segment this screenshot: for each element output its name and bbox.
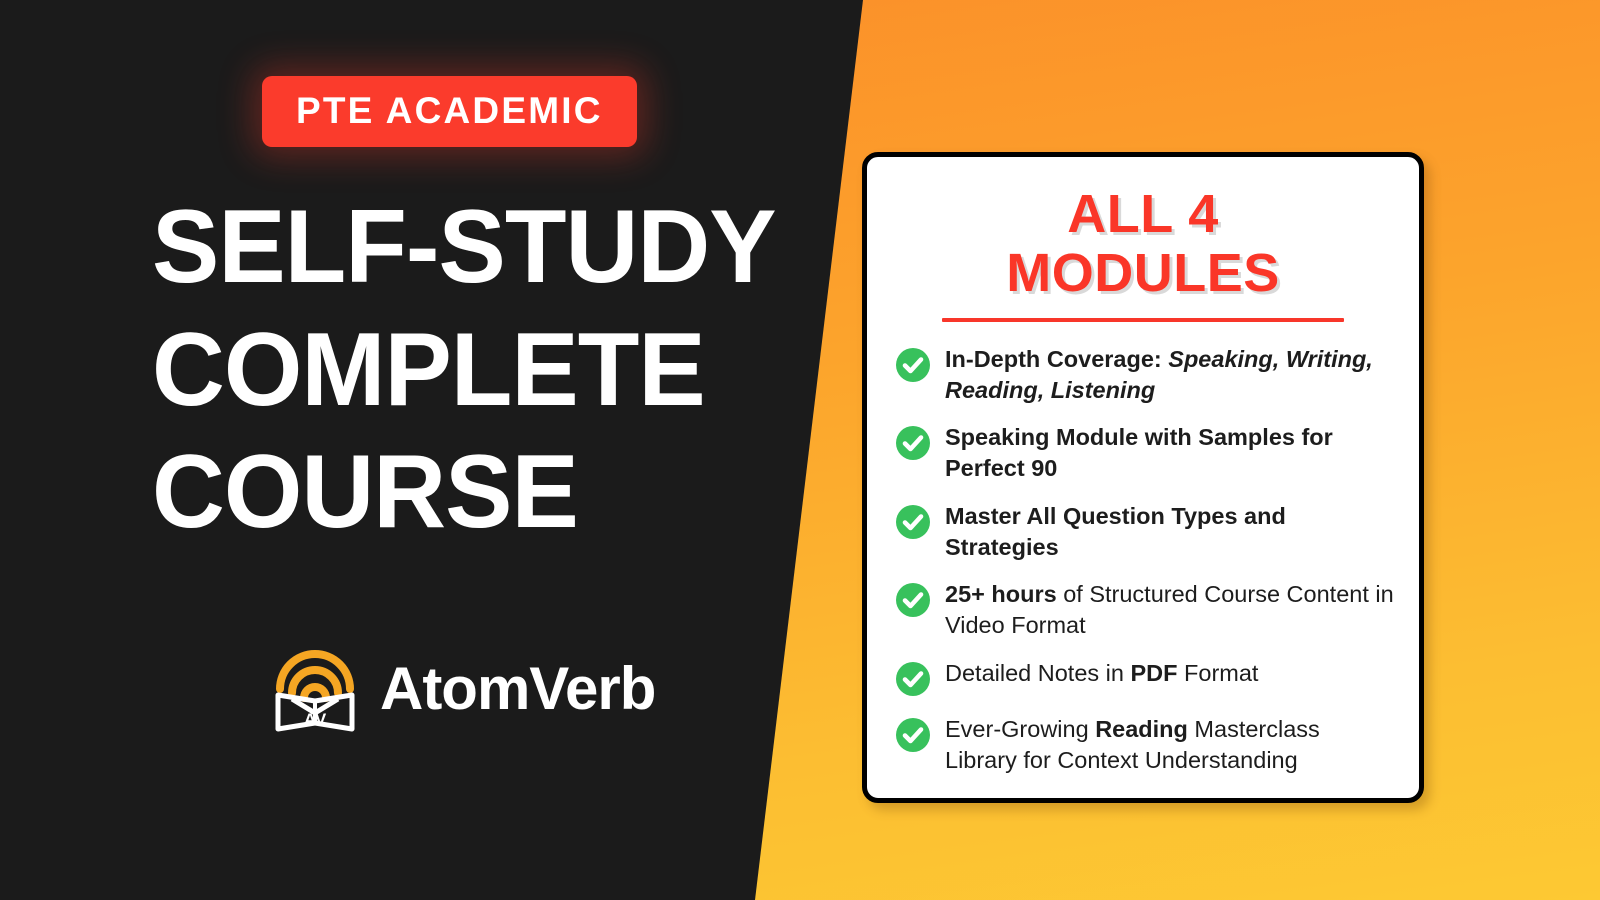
- feature-item: Speaking Module with Samples for Perfect…: [895, 422, 1397, 484]
- feature-text-part: 25+ hours: [945, 581, 1057, 607]
- check-circle-icon: [895, 661, 931, 697]
- left-content-column: PTE ACADEMIC SELF-STUDY COMPLETE COURSE …: [0, 0, 830, 900]
- page-title: SELF-STUDY COMPLETE COURSE: [152, 186, 852, 554]
- feature-item: Detailed Notes in PDF Format: [895, 658, 1397, 697]
- feature-text-part: Speaking Module with Samples for Perfect…: [945, 424, 1333, 481]
- check-circle-icon: [895, 717, 931, 753]
- feature-text-part: Format: [1178, 660, 1259, 686]
- check-circle-icon: [895, 347, 931, 383]
- card-title: ALL 4 MODULES: [867, 185, 1419, 304]
- feature-text: Speaking Module with Samples for Perfect…: [945, 422, 1397, 484]
- features-list: In-Depth Coverage: Speaking, Writing, Re…: [867, 344, 1419, 776]
- headline-line-3: COURSE: [152, 431, 831, 554]
- headline-line-1: SELF-STUDY: [152, 186, 831, 309]
- logo-monogram: AV: [304, 710, 327, 729]
- feature-item: Master All Question Types and Strategies: [895, 501, 1397, 563]
- feature-item: 25+ hours of Structured Course Content i…: [895, 579, 1397, 641]
- card-title-line-2: MODULES: [867, 244, 1419, 303]
- check-circle-icon: [895, 504, 931, 540]
- feature-text-part: Reading: [1095, 716, 1188, 742]
- feature-text-part: Master All Question Types and Strategies: [945, 503, 1286, 560]
- check-circle-icon: [895, 582, 931, 618]
- card-title-line-1: ALL 4: [867, 185, 1419, 244]
- feature-text-part: In-Depth Coverage:: [945, 346, 1168, 372]
- feature-text: Detailed Notes in PDF Format: [945, 658, 1258, 689]
- feature-text-part: PDF: [1131, 660, 1178, 686]
- open-book-wifi-icon: AV: [272, 643, 358, 735]
- feature-text: Master All Question Types and Strategies: [945, 501, 1397, 563]
- logo-wordmark: AtomVerb: [380, 659, 655, 719]
- feature-text-part: Ever-Growing: [945, 716, 1095, 742]
- promo-poster: PTE ACADEMIC SELF-STUDY COMPLETE COURSE …: [0, 0, 1600, 900]
- feature-text-part: Detailed Notes in: [945, 660, 1131, 686]
- feature-text: In-Depth Coverage: Speaking, Writing, Re…: [945, 344, 1397, 406]
- headline-line-2: COMPLETE: [152, 309, 831, 432]
- features-card: ALL 4 MODULES In-Depth Coverage: Speakin…: [862, 152, 1424, 803]
- course-category-badge: PTE ACADEMIC: [262, 76, 637, 147]
- check-circle-icon: [895, 425, 931, 461]
- feature-text: Ever-Growing Reading Masterclass Library…: [945, 714, 1397, 776]
- feature-text: 25+ hours of Structured Course Content i…: [945, 579, 1397, 641]
- feature-item: Ever-Growing Reading Masterclass Library…: [895, 714, 1397, 776]
- badge-label: PTE ACADEMIC: [296, 92, 603, 129]
- feature-item: In-Depth Coverage: Speaking, Writing, Re…: [895, 344, 1397, 406]
- brand-logo: AV AtomVerb: [272, 643, 655, 735]
- title-divider: [942, 318, 1344, 322]
